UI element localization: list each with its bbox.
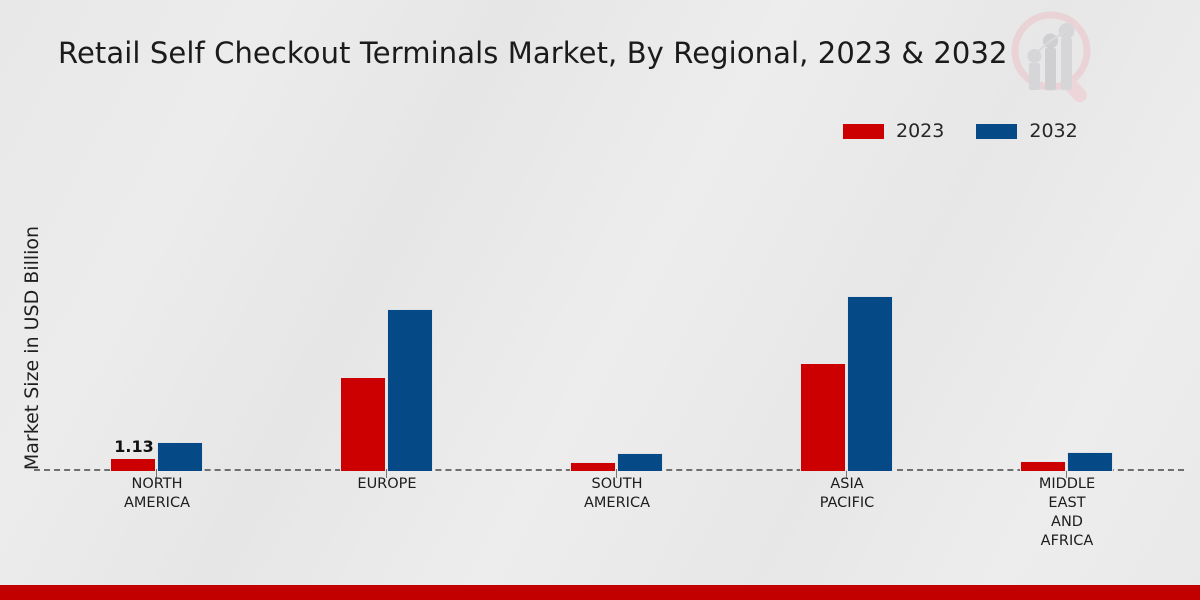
x-axis-label-line: NORTH [57, 475, 257, 494]
plot-area: 1.13 NORTH AMERICA EUROPE SOUTH [34, 185, 1184, 471]
bar-2023-south-america[interactable] [570, 462, 616, 471]
legend-label-2032: 2032 [1029, 122, 1077, 141]
bar-2023-asia-pacific[interactable] [800, 363, 846, 471]
x-axis-label-south-america: SOUTH AMERICA [517, 475, 717, 513]
bar-group-middle-east-and-africa: MIDDLE EAST AND AFRICA [1020, 185, 1114, 471]
x-axis-label-line: SOUTH [517, 475, 717, 494]
legend-swatch-2023 [843, 124, 884, 139]
x-axis-label-asia-pacific: ASIA PACIFIC [747, 475, 947, 513]
bar-2032-south-america[interactable] [617, 453, 663, 471]
chart-canvas: Retail Self Checkout Terminals Market, B… [0, 0, 1200, 600]
bar-2032-middle-east-and-africa[interactable] [1067, 452, 1113, 471]
bar-group-north-america: 1.13 NORTH AMERICA [110, 185, 204, 471]
bar-2023-north-america[interactable]: 1.13 [110, 458, 156, 471]
legend-item-2023[interactable]: 2023 [843, 122, 944, 141]
x-axis-label-north-america: NORTH AMERICA [57, 475, 257, 513]
bar-group-asia-pacific: ASIA PACIFIC [800, 185, 894, 471]
x-axis-label-line: AND [967, 513, 1167, 532]
bar-2023-middle-east-and-africa[interactable] [1020, 461, 1066, 471]
watermark-logo-icon [1010, 8, 1100, 113]
x-axis-label-line: EAST [967, 494, 1167, 513]
bar-2032-north-america[interactable] [157, 442, 203, 471]
x-axis-label-line: EUROPE [287, 475, 487, 494]
x-axis-label-middle-east-and-africa: MIDDLE EAST AND AFRICA [967, 475, 1167, 551]
chart-legend: 2023 2032 [843, 118, 1078, 144]
x-axis-label-line: AFRICA [967, 532, 1167, 551]
legend-swatch-2032 [976, 124, 1017, 139]
legend-label-2023: 2023 [896, 122, 944, 141]
bar-group-europe: EUROPE [340, 185, 434, 471]
bar-2032-asia-pacific[interactable] [847, 296, 893, 471]
x-axis-label-line: AMERICA [57, 494, 257, 513]
x-axis-label-europe: EUROPE [287, 475, 487, 494]
x-axis-label-line: ASIA [747, 475, 947, 494]
x-axis-label-line: PACIFIC [747, 494, 947, 513]
bar-group-south-america: SOUTH AMERICA [570, 185, 664, 471]
legend-item-2032[interactable]: 2032 [976, 122, 1077, 141]
bar-2032-europe[interactable] [387, 309, 433, 471]
x-axis-label-line: AMERICA [517, 494, 717, 513]
bottom-accent-bar [0, 585, 1200, 600]
page-title: Retail Self Checkout Terminals Market, B… [58, 36, 1008, 70]
x-axis-label-line: MIDDLE [967, 475, 1167, 494]
bar-2023-europe[interactable] [340, 377, 386, 471]
